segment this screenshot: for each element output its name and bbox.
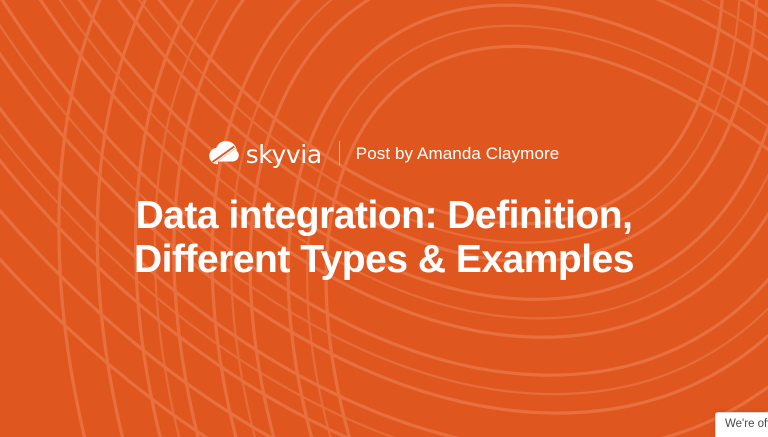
hero-banner: skyvia Post by Amanda Claymore Data inte… <box>0 0 768 437</box>
page-title: Data integration: Definition, Different … <box>64 194 704 282</box>
byline-row: skyvia Post by Amanda Claymore <box>209 138 560 168</box>
skyvia-logo[interactable]: skyvia <box>209 141 322 166</box>
chat-offline-label: We're offl <box>716 419 768 431</box>
post-author-byline: Post by Amanda Claymore <box>356 145 560 162</box>
byline-divider <box>339 141 340 165</box>
cloud-icon <box>209 141 239 165</box>
skyvia-wordmark: skyvia <box>246 142 322 167</box>
chat-offline-widget[interactable]: We're offl <box>715 412 768 437</box>
banner-content: skyvia Post by Amanda Claymore Data inte… <box>0 0 768 437</box>
